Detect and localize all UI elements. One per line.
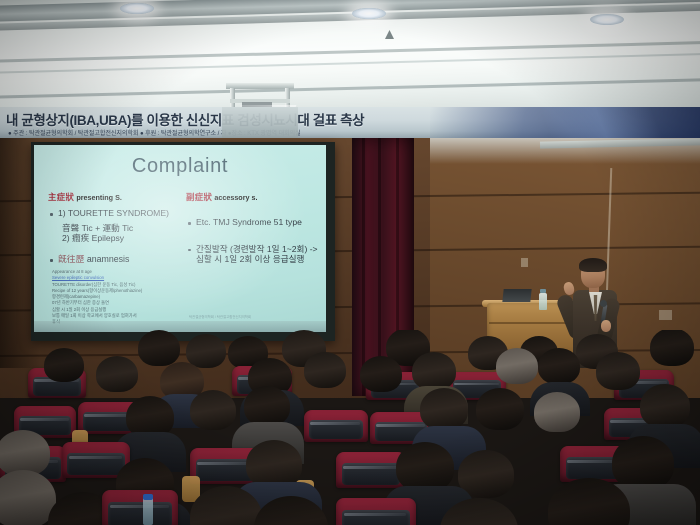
slide-bullet-anamnesis: 旣往歷 anamnesis xyxy=(48,254,188,265)
slide-left-column: 主症狀 presenting S. 1) TOURETTE SYNDROME) … xyxy=(48,191,188,325)
anamnesis-en: anamnesis xyxy=(87,254,130,264)
bullet-text: Etc. TMJ Syndrome 51 type xyxy=(196,217,302,227)
slide-title: Complaint xyxy=(34,155,326,178)
slide-bullet: Etc. TMJ Syndrome 51 type xyxy=(186,217,318,228)
ceiling xyxy=(0,0,700,108)
audience-head xyxy=(538,348,580,384)
seat-highlight xyxy=(376,424,424,427)
audience-head xyxy=(420,388,468,430)
water-bottle-on-podium xyxy=(539,293,547,310)
slide-right-column: 副症狀 accessory s. Etc. TMJ Syndrome 51 ty… xyxy=(186,191,318,269)
water-bottle-audience xyxy=(143,497,153,525)
microphone-head-icon xyxy=(600,300,607,307)
water-bottle-audience-cap xyxy=(143,494,153,500)
laptop-on-podium xyxy=(502,289,531,302)
audience-head xyxy=(612,436,674,490)
audience-head xyxy=(412,352,456,390)
banner-title: 내 균형상지(IBA,UBA)를 이용한 신신지표 검성시뇨시대 걸표 측상 xyxy=(6,109,694,127)
audience-head xyxy=(396,442,454,492)
seat xyxy=(102,490,178,525)
slide-subline-2: 2) 癎疾 Epilepsy xyxy=(48,233,188,244)
audience-head xyxy=(534,392,580,432)
audience-head xyxy=(246,440,302,488)
audience-head xyxy=(304,352,346,388)
event-banner: 내 균형상지(IBA,UBA)를 이용한 신신지표 검성시뇨시대 걸표 측상 ●… xyxy=(0,107,700,139)
right-column-header: 副症狀 accessory s. xyxy=(186,191,318,203)
right-header-en: accessory s. xyxy=(214,193,257,202)
water-bottle-cap xyxy=(540,289,546,293)
left-header-cjk: 主症狀 xyxy=(48,192,74,202)
lecture-hall-photo: 내 균형상지(IBA,UBA)를 이용한 신신지표 검성시뇨시대 걸표 측상 ●… xyxy=(0,0,700,525)
fine-print-link: Severe epileptic convulsion xyxy=(52,275,104,280)
wall-outlet-icon xyxy=(659,310,672,320)
audience-head xyxy=(190,390,236,430)
seat-highlight xyxy=(69,456,122,459)
left-header-en: presenting S. xyxy=(76,193,122,202)
projection-screen-frame: Complaint 主症狀 presenting S. 1) TOURETTE … xyxy=(31,142,335,341)
ceiling-seam xyxy=(0,77,700,99)
audience-head xyxy=(360,356,402,392)
audience-head xyxy=(96,356,138,392)
projection-screen: Complaint 主症狀 presenting S. 1) TOURETTE … xyxy=(34,145,326,332)
ceiling-downlight-icon xyxy=(590,14,624,25)
audience-head xyxy=(44,348,84,382)
audience-area xyxy=(0,330,700,525)
ceiling-downlight-icon xyxy=(352,8,386,19)
seat-highlight xyxy=(197,462,252,465)
audience-head xyxy=(596,352,640,390)
audience-head xyxy=(650,330,694,366)
seat-highlight xyxy=(454,383,499,385)
slide-footer-watermark: 탁관절균형의학회 / 탁관절고합전신지의학회 xyxy=(130,315,310,320)
bullet-text: 1) TOURETTE SYNDROME) xyxy=(58,208,169,218)
audience-head xyxy=(496,348,538,384)
seat-highlight xyxy=(20,418,68,421)
seat xyxy=(336,498,416,525)
left-column-header: 主症狀 presenting S. xyxy=(48,191,188,203)
ceiling-fixture-icon xyxy=(385,30,394,39)
audience-head xyxy=(138,330,180,366)
seat xyxy=(304,410,368,442)
audience-head xyxy=(640,384,690,428)
anamnesis-group: 旣往歷 anamnesis xyxy=(58,254,129,264)
seat-highlight xyxy=(343,466,398,469)
ceiling-seam xyxy=(0,40,700,63)
ceiling-seam xyxy=(0,52,700,74)
slide-subline: 音聲 Tic + 運動 Tic xyxy=(48,223,188,234)
anamnesis-cjk: 旣往歷 xyxy=(58,254,84,264)
seat-highlight xyxy=(344,513,406,516)
seat-highlight xyxy=(310,422,360,425)
projector-mount-plate xyxy=(226,83,294,89)
audience-head xyxy=(186,334,226,368)
banner-subtitle: ● 주관 : 탁관절균형의학회 / 탁관절고합전신지의학회 ● 후원 : 탁관절… xyxy=(8,128,696,138)
wall-switch-icon xyxy=(521,258,528,267)
banner-occluded-by-projector xyxy=(222,107,298,139)
presenter-hair xyxy=(579,258,607,272)
slide-bullet: 간질발작 (경련발작 1일 1~2회) -> 심할 시 1일 2회 이상 응급실… xyxy=(186,244,318,265)
right-header-cjk: 副症狀 xyxy=(186,192,212,202)
ceiling-downlight-icon xyxy=(120,3,154,14)
seat-highlight xyxy=(110,505,169,508)
slide-bullet: 1) TOURETTE SYNDROME) xyxy=(48,208,188,219)
audience-head xyxy=(244,386,290,426)
bullet-text: 간질발작 (경련발작 1일 1~2회) -> 심할 시 1일 2회 이상 응급실… xyxy=(196,244,318,265)
audience-head xyxy=(476,388,524,430)
